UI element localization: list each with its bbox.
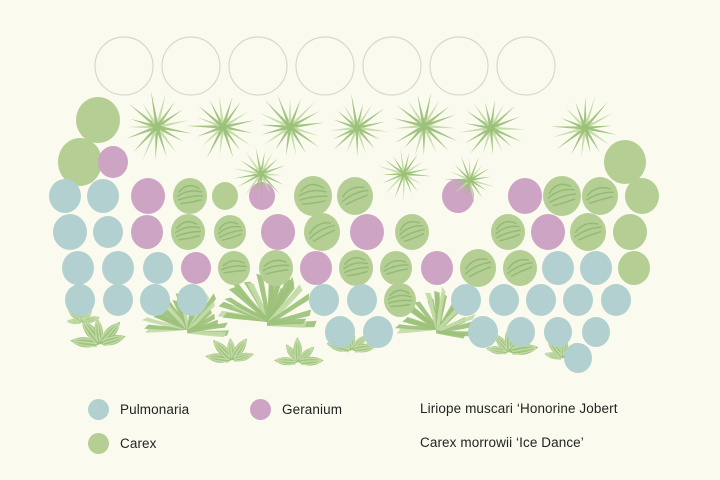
circle-body — [582, 317, 610, 347]
plant-circle-pulmonaria — [49, 179, 81, 213]
plant-circle-pulmonaria — [325, 316, 355, 348]
plant-circle-pulmonaria — [563, 284, 593, 316]
circle-body — [87, 179, 119, 213]
plant-circle-geranium — [531, 214, 565, 250]
legend-entry-carex[interactable]: Carex — [88, 426, 157, 460]
planting-plan-illustration: Pulmonaria Geranium Carex Liriope muscar… — [0, 0, 720, 480]
circle-body — [507, 317, 535, 347]
plant-circle-pulmonaria — [62, 251, 94, 285]
circle-body — [181, 252, 211, 284]
star-center — [353, 124, 361, 132]
plant-circle-carex-veined — [339, 250, 373, 286]
plant-circle-carex-veined — [582, 177, 618, 215]
circle-body — [542, 251, 574, 285]
plant-circle-pulmonaria — [542, 251, 574, 285]
circle-body — [143, 252, 173, 284]
legend-entry-pulmonaria[interactable]: Pulmonaria — [88, 392, 189, 426]
circle-body — [212, 182, 238, 210]
circle-body — [421, 251, 453, 285]
plant-circle-carex-veined — [294, 176, 332, 216]
legend-row: Carex — [88, 426, 388, 460]
circle-body — [489, 284, 519, 316]
plant-circle-carex-veined — [503, 250, 537, 286]
circle-body — [102, 251, 134, 285]
circle-body — [49, 179, 81, 213]
star-center — [286, 123, 294, 131]
plant-circle-pulmonaria — [65, 284, 95, 316]
circle-body — [451, 284, 481, 316]
circle-body — [580, 251, 612, 285]
star-center — [153, 123, 162, 132]
plant-circle-pulmonaria — [544, 317, 572, 347]
circle-body — [177, 284, 207, 316]
plant-circle-carex-plain — [58, 138, 102, 186]
plant-circle-geranium — [350, 214, 384, 250]
circle-body — [131, 178, 165, 214]
plant-circle-carex-veined — [491, 214, 525, 250]
plant-circle-pulmonaria — [489, 284, 519, 316]
plant-circle-carex-veined — [218, 251, 250, 285]
plant-circle-carex-veined — [384, 283, 416, 317]
plant-circle-geranium — [181, 252, 211, 284]
star-center — [401, 171, 407, 177]
plant-circle-carex-veined — [380, 251, 412, 285]
plant-circle-carex-veined — [171, 214, 205, 250]
plant-circle-pulmonaria — [451, 284, 481, 316]
star-center — [420, 122, 429, 131]
plant-circle-pulmonaria — [102, 251, 134, 285]
plant-circle-pulmonaria — [309, 284, 339, 316]
legend-note-carex: Carex morrowii ‘Ice Dance’ — [420, 426, 700, 460]
circle-body — [564, 343, 592, 373]
circle-body — [460, 249, 496, 287]
circle-body — [259, 250, 293, 286]
circle-body — [508, 178, 542, 214]
plant-circle-carex-veined — [304, 213, 340, 251]
plant-circle-pulmonaria — [564, 343, 592, 373]
plant-circle-pulmonaria — [582, 317, 610, 347]
circle-body — [218, 251, 250, 285]
plant-circle-pulmonaria — [143, 252, 173, 284]
circle-swatch-icon — [88, 399, 109, 420]
star-center — [219, 123, 227, 131]
circle-body — [625, 178, 659, 214]
circle-body — [62, 251, 94, 285]
plant-circle-carex-veined — [337, 177, 373, 215]
plant-circle-pulmonaria — [507, 317, 535, 347]
plant-circle-pulmonaria — [347, 284, 377, 316]
circle-body — [544, 317, 572, 347]
plant-circle-pulmonaria — [601, 284, 631, 316]
leaf-stripe — [297, 340, 298, 359]
circle-body — [613, 214, 647, 250]
plant-circle-pulmonaria — [177, 284, 207, 316]
plant-circle-pulmonaria — [468, 316, 498, 348]
circle-body — [468, 316, 498, 348]
circle-body — [304, 213, 340, 251]
plant-circle-geranium — [98, 146, 128, 178]
plant-circle-carex-veined — [543, 176, 581, 216]
star-center — [258, 171, 264, 177]
plant-circle-pulmonaria — [140, 284, 170, 316]
star-center — [581, 124, 589, 132]
plant-circle-carex-veined — [395, 214, 429, 250]
circle-body — [261, 214, 295, 250]
plant-circle-carex-plain — [604, 140, 646, 184]
legend-label: Carex — [120, 436, 157, 451]
legend-note-liriope: Liriope muscari ‘Honorine Jobert — [420, 392, 700, 426]
circle-body — [103, 284, 133, 316]
legend-note-column: Liriope muscari ‘Honorine Jobert Carex m… — [420, 392, 700, 460]
star-center — [467, 177, 473, 183]
circle-body — [543, 176, 581, 216]
legend-entry-geranium[interactable]: Geranium — [250, 392, 342, 426]
plant-circle-carex-plain — [618, 251, 650, 285]
plant-circle-carex-plain — [212, 182, 238, 210]
circle-body — [65, 284, 95, 316]
plant-circle-pulmonaria — [53, 214, 87, 250]
circle-body — [618, 251, 650, 285]
legend-label: Pulmonaria — [120, 402, 189, 417]
circle-body — [601, 284, 631, 316]
plant-circle-carex-veined — [460, 249, 496, 287]
plant-circle-pulmonaria — [103, 284, 133, 316]
plant-circle-carex-plain — [625, 178, 659, 214]
circle-body — [140, 284, 170, 316]
circle-body — [309, 284, 339, 316]
plant-circle-geranium — [131, 215, 163, 249]
circle-body — [604, 140, 646, 184]
plant-circle-carex-veined — [214, 215, 246, 249]
plant-circle-geranium — [261, 214, 295, 250]
circle-body — [350, 214, 384, 250]
legend: Pulmonaria Geranium Carex Liriope muscar… — [0, 392, 720, 468]
plant-circle-geranium — [421, 251, 453, 285]
circle-body — [491, 214, 525, 250]
circle-body — [131, 215, 163, 249]
circle-body — [395, 214, 429, 250]
circle-body — [300, 251, 332, 285]
legend-label: Geranium — [282, 402, 342, 417]
circle-body — [76, 97, 120, 143]
plant-circle-pulmonaria — [580, 251, 612, 285]
circle-body — [98, 146, 128, 178]
circle-body — [58, 138, 102, 186]
circle-body — [563, 284, 593, 316]
plant-circle-carex-veined — [173, 178, 207, 214]
circle-body — [93, 216, 123, 248]
plant-circle-geranium — [300, 251, 332, 285]
circle-body — [347, 284, 377, 316]
circle-body — [380, 251, 412, 285]
plant-circle-carex-veined — [570, 213, 606, 251]
circle-swatch-icon — [88, 433, 109, 454]
circle-body — [325, 316, 355, 348]
star-center — [487, 124, 495, 132]
plant-circle-pulmonaria — [363, 316, 393, 348]
circle-body — [363, 316, 393, 348]
plant-circle-pulmonaria — [526, 284, 556, 316]
plant-circle-pulmonaria — [87, 179, 119, 213]
plant-circle-geranium — [508, 178, 542, 214]
plant-circle-pulmonaria — [93, 216, 123, 248]
legend-swatch-column: Pulmonaria Geranium Carex — [88, 392, 388, 460]
legend-row: Pulmonaria Geranium — [88, 392, 388, 426]
plant-circle-carex-veined — [259, 250, 293, 286]
plant-circle-geranium — [131, 178, 165, 214]
circle-body — [531, 214, 565, 250]
circle-body — [526, 284, 556, 316]
circle-swatch-icon — [250, 399, 271, 420]
circle-body — [53, 214, 87, 250]
plant-circle-carex-plain — [76, 97, 120, 143]
plant-circle-carex-plain — [613, 214, 647, 250]
circle-body — [582, 177, 618, 215]
